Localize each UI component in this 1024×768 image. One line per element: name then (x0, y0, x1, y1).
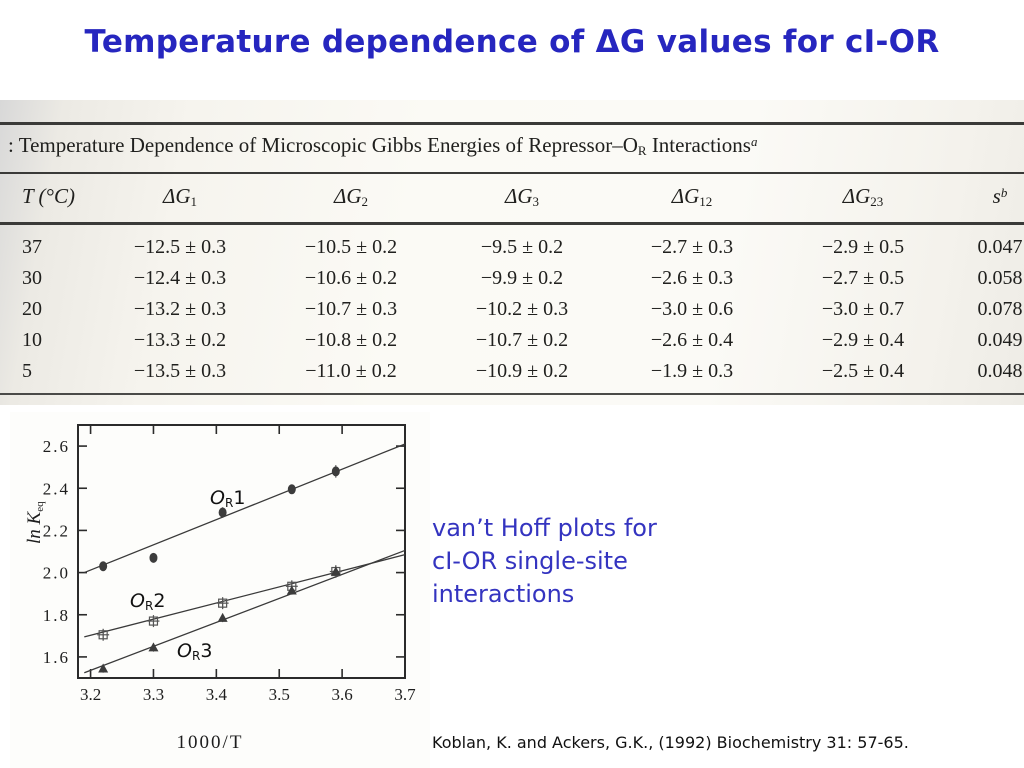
table-cell-dg1: −13.2 ± 0.3 (134, 298, 226, 321)
series-label-or3-num: 3 (200, 640, 212, 662)
table-caption-prefix: : Temperature Dependence of Microscopic … (8, 133, 638, 157)
table-cell-dg12: −3.0 ± 0.6 (651, 298, 733, 321)
vant-hoff-chart: 1.61.82.02.22.42.6 3.23.33.43.53.63.7 ln… (10, 412, 430, 768)
table-row: 37 −12.5 ± 0.3 −10.5 ± 0.2 −9.5 ± 0.2 −2… (0, 236, 1024, 266)
table-rule-under-header (0, 222, 1024, 225)
table-header-dg12-sub: 12 (699, 194, 712, 209)
table-cell-s: 0.078 (978, 298, 1023, 321)
table-cell-dg1: −12.4 ± 0.3 (134, 267, 226, 290)
y-axis-label: ln Keq (24, 501, 46, 544)
table-cell-dg2: −11.0 ± 0.2 (305, 360, 397, 383)
table-header-dg1: ΔG1 (163, 184, 197, 210)
table-row: 10 −13.3 ± 0.2 −10.8 ± 0.2 −10.7 ± 0.2 −… (0, 329, 1024, 359)
table-header-temperature: T (°C) (22, 184, 75, 209)
table-cell-dg2: −10.7 ± 0.3 (305, 298, 397, 321)
table-cell-temperature: 37 (22, 236, 42, 259)
table-cell-s: 0.049 (978, 329, 1023, 352)
table-row: 30 −12.4 ± 0.3 −10.6 ± 0.2 −9.9 ± 0.2 −2… (0, 267, 1024, 297)
table-cell-dg3: −9.9 ± 0.2 (481, 267, 563, 290)
y-axis-label-sub: eq (34, 501, 46, 511)
svg-text:2.2: 2.2 (43, 521, 70, 540)
svg-text:2.0: 2.0 (43, 564, 70, 583)
table-cell-dg12: −2.7 ± 0.3 (651, 236, 733, 259)
svg-text:2.4: 2.4 (43, 479, 70, 498)
svg-text:1.8: 1.8 (43, 606, 70, 625)
table-rule-bottom (0, 393, 1024, 395)
table-header-temperature-text: T (°C) (22, 184, 75, 208)
table-cell-dg1: −13.3 ± 0.2 (134, 329, 226, 352)
y-axis-label-text: ln K (24, 512, 45, 544)
series-label-or1-o: O (210, 487, 225, 509)
series-label-or3-o: O (177, 640, 192, 662)
fit-lines (84, 444, 405, 673)
table-cell-dg12: −2.6 ± 0.3 (651, 267, 733, 290)
table-cell-dg3: −10.2 ± 0.3 (476, 298, 568, 321)
table-cell-dg3: −10.9 ± 0.2 (476, 360, 568, 383)
table-row: 20 −13.2 ± 0.3 −10.7 ± 0.3 −10.2 ± 0.3 −… (0, 298, 1024, 328)
table-cell-dg1: −12.5 ± 0.3 (134, 236, 226, 259)
table-cell-dg23: −3.0 ± 0.7 (822, 298, 904, 321)
table-header-dg12: ΔG12 (672, 184, 713, 210)
vant-hoff-caption: van’t Hoff plots for cI-OR single-site i… (432, 512, 732, 611)
table-header-dg3: ΔG3 (505, 184, 539, 210)
table-header-s: sb (993, 184, 1008, 209)
table-cell-dg3: −10.7 ± 0.2 (476, 329, 568, 352)
table-cell-dg2: −10.8 ± 0.2 (305, 329, 397, 352)
table-header-dg12-text: ΔG (672, 184, 700, 208)
x-axis-tick-labels: 3.23.33.43.53.63.7 (80, 685, 416, 704)
y-axis-tick-labels: 1.61.82.02.22.42.6 (43, 437, 70, 667)
svg-text:3.5: 3.5 (269, 685, 290, 704)
table-caption-subscript: R (638, 143, 647, 158)
series-label-or1-num: 1 (233, 487, 245, 509)
svg-text:3.3: 3.3 (143, 685, 164, 704)
table-header-dg2-text: ΔG (334, 184, 362, 208)
series-label-or3: OR3 (177, 640, 212, 663)
table-rule-top (0, 122, 1024, 125)
table-header-dg3-sub: 3 (533, 194, 540, 209)
table-cell-s: 0.048 (978, 360, 1023, 383)
citation-text: Koblan, K. and Ackers, G.K., (1992) Bioc… (432, 733, 909, 752)
svg-text:3.4: 3.4 (206, 685, 228, 704)
table-header-dg23-sub: 23 (870, 194, 883, 209)
table-header-s-sup: b (1001, 185, 1008, 200)
table-cell-temperature: 20 (22, 298, 42, 321)
table-caption: : Temperature Dependence of Microscopic … (8, 133, 757, 159)
svg-text:2.6: 2.6 (43, 437, 70, 456)
table-cell-s: 0.047 (978, 236, 1023, 259)
caption-line-3: interactions (432, 578, 732, 611)
table-cell-dg23: −2.7 ± 0.5 (822, 267, 904, 290)
table-cell-dg23: −2.9 ± 0.4 (822, 329, 904, 352)
table-caption-suffix: Interactions (647, 133, 751, 157)
svg-text:3.7: 3.7 (394, 685, 416, 704)
series-label-or2: OR2 (130, 590, 165, 613)
table-cell-temperature: 10 (22, 329, 42, 352)
table-header-s-text: s (993, 184, 1001, 208)
table-row: 5 −13.5 ± 0.3 −11.0 ± 0.2 −10.9 ± 0.2 −1… (0, 360, 1024, 390)
table-cell-dg3: −9.5 ± 0.2 (481, 236, 563, 259)
svg-text:1.6: 1.6 (43, 648, 70, 667)
svg-text:3.6: 3.6 (331, 685, 352, 704)
series-label-or1: OR1 (210, 487, 245, 510)
table-header-dg23-text: ΔG (843, 184, 871, 208)
table-cell-dg2: −10.6 ± 0.2 (305, 267, 397, 290)
table-cell-dg12: −2.6 ± 0.4 (651, 329, 733, 352)
table-header-dg2-sub: 2 (362, 194, 369, 209)
table-cell-dg23: −2.5 ± 0.4 (822, 360, 904, 383)
series-label-or2-o: O (130, 590, 145, 612)
table-cell-temperature: 5 (22, 360, 32, 383)
table-cell-s: 0.058 (978, 267, 1023, 290)
table-header-dg2: ΔG2 (334, 184, 368, 210)
table-cell-temperature: 30 (22, 267, 42, 290)
caption-line-2: cI-OR single-site (432, 545, 732, 578)
table-cell-dg2: −10.5 ± 0.2 (305, 236, 397, 259)
table-rule-under-caption (0, 172, 1024, 174)
data-table-scan: : Temperature Dependence of Microscopic … (0, 100, 1024, 405)
table-cell-dg23: −2.9 ± 0.5 (822, 236, 904, 259)
table-header-row: T (°C) ΔG1 ΔG2 ΔG3 ΔG12 ΔG23 sb (0, 184, 1024, 214)
caption-line-1: van’t Hoff plots for (432, 512, 732, 545)
table-header-dg3-text: ΔG (505, 184, 533, 208)
table-cell-dg12: −1.9 ± 0.3 (651, 360, 733, 383)
series-label-or2-num: 2 (153, 590, 165, 612)
page-title: Temperature dependence of ΔG values for … (0, 24, 1024, 60)
chart-canvas: 1.61.82.02.22.42.6 3.23.33.43.53.63.7 (10, 412, 430, 732)
table-cell-dg1: −13.5 ± 0.3 (134, 360, 226, 383)
table-header-dg1-text: ΔG (163, 184, 191, 208)
table-header-dg1-sub: 1 (191, 194, 198, 209)
table-header-dg23: ΔG23 (843, 184, 884, 210)
x-axis-label: 1000/T (10, 732, 410, 754)
svg-text:3.2: 3.2 (80, 685, 101, 704)
table-caption-footnote: a (751, 134, 758, 149)
